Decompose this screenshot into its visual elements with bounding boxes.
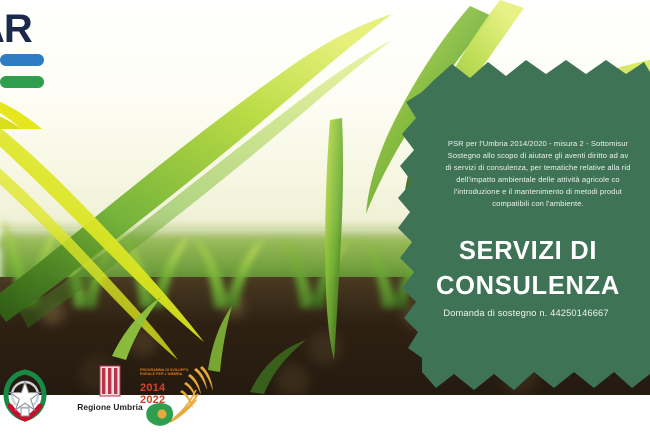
body-line-3: di servizi di consulenza, per tematiche … [402, 162, 650, 174]
title-line-1: SERVIZI DI [392, 234, 650, 269]
emblem-repubblica-italiana [2, 362, 48, 428]
brand-bar-blue [0, 54, 44, 66]
body-line-5: l'introduzione e il mantenimento di meto… [402, 186, 650, 198]
body-line-6: compatibili con l'ambiente. [402, 198, 650, 210]
poster-canvas: AR O O E PSR per l'Umbria 2014/2020 - mi… [0, 0, 650, 433]
panel-body-copy: PSR per l'Umbria 2014/2020 - misura 2 - … [402, 138, 650, 211]
brand-wordmark-text: AR [0, 7, 33, 51]
body-line-4: dell'impatto ambientale delle attività a… [402, 174, 650, 186]
psr-year-from: 2014 [140, 383, 184, 395]
logo-psr-umbria: PROGRAMMA DI SVILUPPO RURALE PER L'UMBRI… [128, 362, 220, 432]
body-line-2: Sostegno allo scopo di aiutare gli avent… [402, 150, 650, 162]
brand-bar-green [0, 76, 44, 88]
brand-yellow-stripes [0, 100, 54, 129]
logo-psr-umbria-years: 2014 2022 [140, 383, 184, 406]
emblem-repubblica-italiana-svg [2, 362, 48, 428]
title-line-2: CONSULENZA [392, 269, 650, 304]
agriculture-brand-logo: AR O O E [0, 4, 71, 129]
logo-psr-umbria-heading: PROGRAMMA DI SVILUPPO RURALE PER L'UMBRI… [140, 368, 196, 377]
panel-title: SERVIZI DI CONSULENZA [392, 234, 650, 304]
psr-sun-dot [157, 409, 166, 418]
agriculture-brand-logo-svg: AR O O E [0, 4, 71, 129]
footer-logo-strip: Regione Umbria PROGRAM [0, 395, 650, 433]
green-panel-text-layer: PSR per l'Umbria 2014/2020 - misura 2 - … [378, 58, 650, 398]
body-line-1: PSR per l'Umbria 2014/2020 - misura 2 - … [402, 138, 650, 150]
panel-subtitle: Domanda di sostegno n. 44250146667 [390, 308, 650, 318]
psr-year-to: 2022 [140, 395, 184, 407]
